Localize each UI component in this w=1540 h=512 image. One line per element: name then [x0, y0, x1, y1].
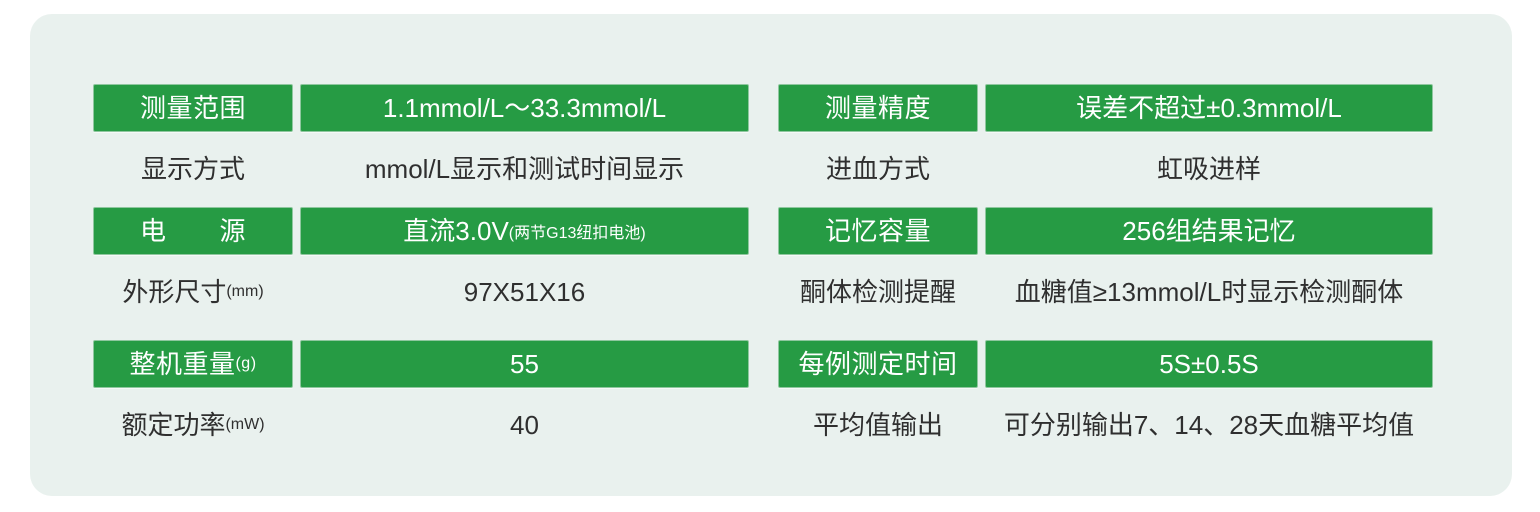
spec-row: 每例测定时间 5S±0.5S	[778, 340, 1433, 388]
spec-row: 外形尺寸(mm) 97X51X16	[93, 268, 749, 316]
spec-label-text: 进血方式	[826, 156, 930, 182]
spec-value-cell: 血糖值≥13mmol/L时显示检测酮体	[985, 268, 1433, 316]
spec-label-text: 测量精度	[825, 95, 931, 121]
spec-label-cell: 整机重量(g)	[93, 340, 293, 388]
spec-label-text: 平均值输出	[813, 412, 943, 438]
spec-label-unit: (g)	[235, 355, 256, 373]
spec-value-text: 虹吸进样	[1157, 156, 1261, 182]
specification-grid: 测量范围 1.1mmol/L～33.3mmol/L 显示方式 mmol/L显示和…	[30, 14, 1512, 496]
spec-value-suffix: (两节G13纽扣电池)	[509, 219, 646, 243]
spec-row: 整机重量(g) 55	[93, 340, 749, 388]
spec-value-cell: 256组结果记忆	[985, 207, 1433, 255]
spec-value-text: mmol/L显示和测试时间显示	[365, 156, 684, 182]
spec-label-text: 测量范围	[140, 95, 246, 121]
spec-label-cell: 测量精度	[778, 84, 978, 132]
spec-row: 平均值输出 可分别输出7、14、28天血糖平均值	[778, 401, 1433, 449]
spec-row: 酮体检测提醒 血糖值≥13mmol/L时显示检测酮体	[778, 268, 1433, 316]
spec-value-text: 97X51X16	[464, 279, 585, 305]
right-column: 测量精度 误差不超过±0.3mmol/L 进血方式 虹吸进样 记忆容量	[778, 14, 1433, 496]
spec-row: 测量范围 1.1mmol/L～33.3mmol/L	[93, 84, 749, 132]
spec-label-cell: 进血方式	[778, 145, 978, 193]
spec-value-cell: 误差不超过±0.3mmol/L	[985, 84, 1433, 132]
spec-row: 进血方式 虹吸进样	[778, 145, 1433, 193]
spec-value-cell: 可分别输出7、14、28天血糖平均值	[985, 401, 1433, 449]
spec-label-text: 整机重量	[129, 351, 235, 377]
spec-label-text: 记忆容量	[825, 218, 931, 244]
spec-row: 显示方式 mmol/L显示和测试时间显示	[93, 145, 749, 193]
spec-row: 测量精度 误差不超过±0.3mmol/L	[778, 84, 1433, 132]
spec-row: 记忆容量 256组结果记忆	[778, 207, 1433, 255]
spec-label-unit: (mm)	[226, 283, 263, 301]
spec-value-text: 40	[510, 412, 539, 438]
spec-label-cell: 记忆容量	[778, 207, 978, 255]
spec-value-cell: 5S±0.5S	[985, 340, 1433, 388]
spec-value-text: 5S±0.5S	[1159, 351, 1259, 377]
spec-value-cell: 虹吸进样	[985, 145, 1433, 193]
spec-label-cell: 酮体检测提醒	[778, 268, 978, 316]
spec-value-text: 55	[510, 351, 539, 377]
spec-label-cell: 外形尺寸(mm)	[93, 268, 293, 316]
spec-label-text: 外形尺寸	[122, 279, 226, 305]
spec-label-text: 酮体检测提醒	[800, 279, 956, 305]
spec-label-text: 每例测定时间	[798, 351, 957, 377]
spec-value-text: 血糖值≥13mmol/L时显示检测酮体	[1015, 279, 1403, 305]
spec-label-unit: (mW)	[225, 416, 264, 434]
spec-label-cell: 每例测定时间	[778, 340, 978, 388]
spec-label-cell: 显示方式	[93, 145, 293, 193]
left-column: 测量范围 1.1mmol/L～33.3mmol/L 显示方式 mmol/L显示和…	[93, 14, 749, 496]
spec-label-text: 额定功率	[121, 412, 225, 438]
spec-label-cell: 电 源	[93, 207, 293, 255]
spec-row: 电 源 直流3.0V(两节G13纽扣电池)	[93, 207, 749, 255]
spec-label-text: 显示方式	[141, 156, 245, 182]
spec-value-text: 可分别输出7、14、28天血糖平均值	[1004, 412, 1414, 438]
spec-value-cell: mmol/L显示和测试时间显示	[300, 145, 749, 193]
spec-value-text: 误差不超过±0.3mmol/L	[1076, 95, 1342, 121]
spec-label-cell: 测量范围	[93, 84, 293, 132]
spec-label-cell: 额定功率(mW)	[93, 401, 293, 449]
spec-label-cell: 平均值输出	[778, 401, 978, 449]
spec-value-cell: 40	[300, 401, 749, 449]
spec-value-text: 1.1mmol/L～33.3mmol/L	[383, 95, 666, 121]
spec-value-cell: 1.1mmol/L～33.3mmol/L	[300, 84, 749, 132]
spec-row: 额定功率(mW) 40	[93, 401, 749, 449]
spec-value-cell: 97X51X16	[300, 268, 749, 316]
specification-panel: 测量范围 1.1mmol/L～33.3mmol/L 显示方式 mmol/L显示和…	[30, 14, 1512, 496]
spec-label-text: 电 源	[140, 218, 246, 244]
spec-value-text: 直流3.0V	[403, 218, 509, 244]
spec-value-cell: 直流3.0V(两节G13纽扣电池)	[300, 207, 749, 255]
spec-value-text: 256组结果记忆	[1122, 218, 1295, 244]
spec-value-cell: 55	[300, 340, 749, 388]
